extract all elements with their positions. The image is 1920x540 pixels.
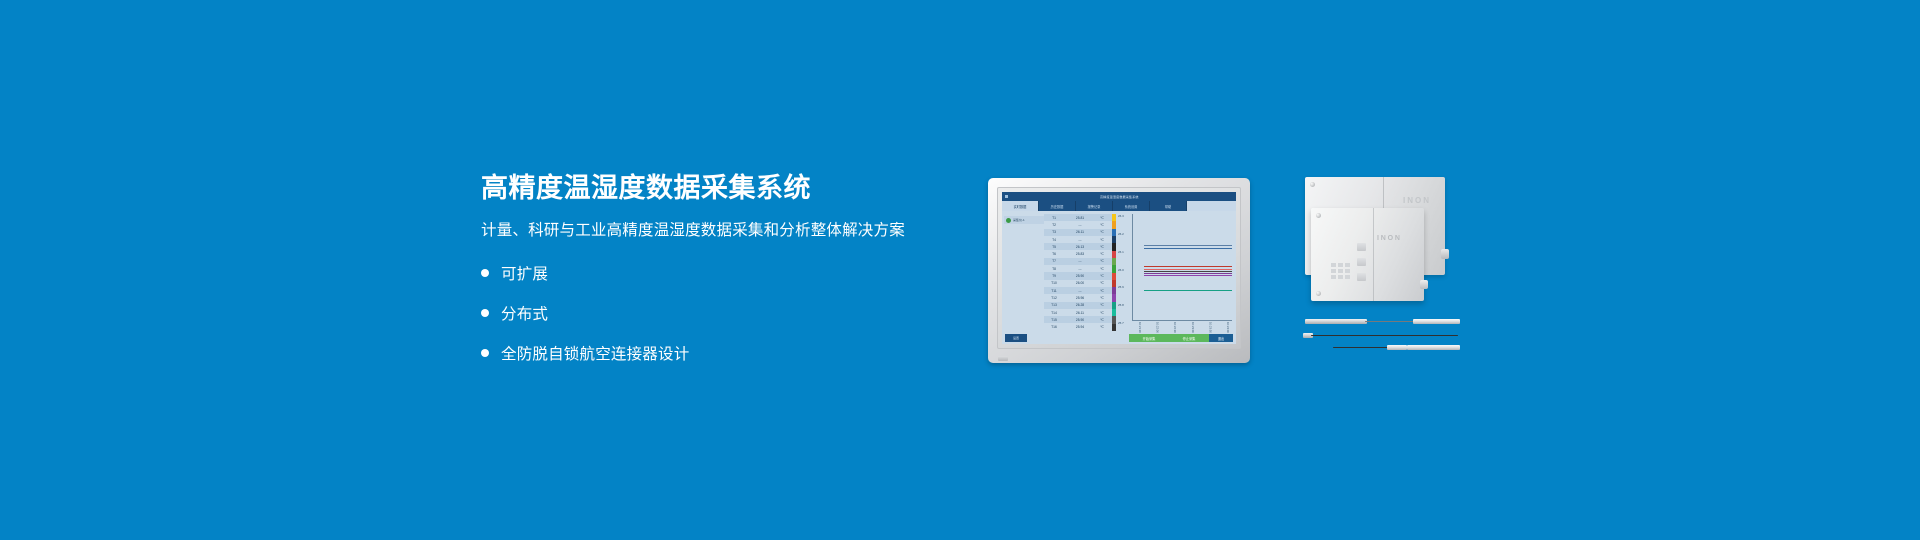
temperature-probe-1 <box>1305 319 1460 324</box>
table-row[interactable]: T125.81℃ <box>1044 214 1112 221</box>
table-row[interactable]: T2---℃ <box>1044 221 1112 228</box>
channel-value: 25.81 <box>1064 216 1096 220</box>
panel-seam <box>1373 208 1374 301</box>
device-tree-label: 采集仪-1 <box>1013 218 1025 222</box>
channel-name: T16 <box>1044 325 1064 329</box>
bullet-dot-icon <box>481 349 489 357</box>
channel-value: --- <box>1064 238 1096 242</box>
tab-alarm-log[interactable]: 报警记录 <box>1076 201 1113 211</box>
channel-name: T10 <box>1044 281 1064 285</box>
aviation-connector-icon <box>1441 249 1449 259</box>
table-row[interactable]: T1026.00℃ <box>1044 280 1112 287</box>
feature-label: 全防脱自锁航空连接器设计 <box>501 342 689 364</box>
chart-series-line <box>1144 266 1232 267</box>
banner-subtitle: 计量、科研与工业高精度温湿度数据采集和分析整体解决方案 <box>481 221 1001 241</box>
tab-label: 历史数据 <box>1051 204 1064 209</box>
app-footer: 设置 开始采集 停止采集 退出 <box>1002 333 1236 344</box>
series-color-swatch <box>1112 221 1116 228</box>
x-axis-tick-label: 10:24:00 <box>1226 322 1230 333</box>
series-color-swatch <box>1112 287 1116 294</box>
page-title: 高精度温湿度数据采集系统 <box>481 172 1001 204</box>
series-color-swatch <box>1112 229 1116 236</box>
channel-unit: ℃ <box>1096 267 1108 271</box>
channel-value: 25.94 <box>1064 325 1096 329</box>
app-body: 采集仪-1 T125.81℃T2---℃T326.11℃T4---℃T526.1… <box>1002 211 1236 333</box>
channel-name: T4 <box>1044 238 1064 242</box>
table-row[interactable]: T1326.28℃ <box>1044 302 1112 309</box>
screw-icon <box>1310 182 1315 187</box>
table-row[interactable]: T1225.96℃ <box>1044 294 1112 301</box>
channel-value: 26.13 <box>1064 245 1096 249</box>
panel-pc-tablet: 高精度温湿度数据采集系统 实时数据 历史数据 报警记录 系统设置 <box>988 178 1250 363</box>
probe-sleeve <box>1413 319 1460 323</box>
table-row[interactable]: T7---℃ <box>1044 258 1112 265</box>
chart-series-line <box>1144 248 1232 249</box>
series-color-swatch <box>1112 280 1116 287</box>
channel-unit: ℃ <box>1096 281 1108 285</box>
tab-realtime-data[interactable]: 实时数据 <box>1002 201 1039 211</box>
series-color-swatch <box>1112 251 1116 258</box>
chart-series-line <box>1144 275 1232 276</box>
tabbar-filler <box>1187 201 1236 211</box>
series-color-swatch <box>1112 265 1116 272</box>
channel-unit: ℃ <box>1096 245 1108 249</box>
product-banner: 高精度温湿度数据采集系统 计量、科研与工业高精度温湿度数据采集和分析整体解决方案… <box>0 0 1920 540</box>
tab-label: 报警记录 <box>1088 204 1101 209</box>
x-axis-tick-label: 10:22:00 <box>1156 322 1160 333</box>
channel-name: T12 <box>1044 296 1064 300</box>
series-color-swatch <box>1112 273 1116 280</box>
table-row[interactable]: T8---℃ <box>1044 265 1112 272</box>
channel-unit: ℃ <box>1096 289 1108 293</box>
table-row[interactable]: T1426.11℃ <box>1044 309 1112 316</box>
channel-name: T11 <box>1044 289 1064 293</box>
app-tabbar: 实时数据 历史数据 报警记录 系统设置 帮助 <box>1002 201 1236 211</box>
tablet-stand-foot <box>998 356 1008 361</box>
bullet-dot-icon <box>481 309 489 317</box>
channel-value: 26.00 <box>1064 281 1096 285</box>
tab-label: 实时数据 <box>1014 204 1027 209</box>
screw-icon <box>1316 213 1321 218</box>
chart-series-line <box>1144 271 1232 272</box>
channel-name: T9 <box>1044 274 1064 278</box>
table-row[interactable]: T4---℃ <box>1044 236 1112 243</box>
y-axis-tick-label: 25.7 <box>1118 321 1124 325</box>
temperature-probe-3 <box>1333 345 1460 350</box>
probe-cable <box>1311 335 1458 337</box>
y-axis-tick-label: 26.2 <box>1118 232 1124 236</box>
x-axis-tick-label: 10:22:30 <box>1173 322 1177 333</box>
tablet-bezel: 高精度温湿度数据采集系统 实时数据 历史数据 报警记录 系统设置 <box>997 187 1241 349</box>
y-axis-tick-label: 26.0 <box>1118 268 1124 272</box>
list-item: 可扩展 <box>481 262 1001 284</box>
chart-series-line <box>1144 273 1232 274</box>
channel-value: --- <box>1064 267 1096 271</box>
channel-unit: ℃ <box>1096 318 1108 322</box>
chart-y-axis: 26.326.226.126.025.925.825.7 <box>1118 214 1133 321</box>
table-row[interactable]: T11---℃ <box>1044 287 1112 294</box>
channel-name: T8 <box>1044 267 1064 271</box>
series-color-swatch <box>1112 214 1116 221</box>
channel-unit: ℃ <box>1096 303 1108 307</box>
banner-text-block: 高精度温湿度数据采集系统 计量、科研与工业高精度温湿度数据采集和分析整体解决方案… <box>481 172 1001 364</box>
channel-name: T2 <box>1044 223 1064 227</box>
channel-unit: ℃ <box>1096 223 1108 227</box>
channel-value: 25.90 <box>1064 274 1096 278</box>
table-row[interactable]: T625.83℃ <box>1044 250 1112 257</box>
y-axis-tick-label: 25.9 <box>1118 285 1124 289</box>
app-titlebar: 高精度温湿度数据采集系统 <box>1002 192 1236 201</box>
table-row[interactable]: T925.90℃ <box>1044 272 1112 279</box>
series-color-swatch <box>1112 324 1116 331</box>
bullet-dot-icon <box>481 269 489 277</box>
tab-history-data[interactable]: 历史数据 <box>1039 201 1076 211</box>
app-window-title: 高精度温湿度数据采集系统 <box>1100 194 1139 199</box>
brand-label: INON <box>1377 235 1402 242</box>
device-tree-item[interactable]: 采集仪-1 <box>1004 216 1044 224</box>
channel-name: T6 <box>1044 252 1064 256</box>
probe-cable <box>1365 321 1416 323</box>
screw-icon <box>1316 291 1321 296</box>
x-axis-tick-label: 10:23:00 <box>1191 322 1195 333</box>
series-color-swatch <box>1112 236 1116 243</box>
keypad-icon <box>1331 263 1350 279</box>
table-row[interactable]: T326.11℃ <box>1044 229 1112 236</box>
exit-button[interactable]: 退出 <box>1209 334 1233 342</box>
x-axis-tick-label: 10:23:30 <box>1208 322 1212 333</box>
probe-tip <box>1305 319 1367 324</box>
tab-settings[interactable]: 系统设置 <box>1113 201 1150 211</box>
channel-value: --- <box>1064 223 1096 227</box>
trend-chart: 26.326.226.126.025.925.825.7 10:21:3010:… <box>1118 214 1234 331</box>
footer-button-group: 开始采集 停止采集 退出 <box>1129 334 1233 342</box>
chart-series-line <box>1144 269 1232 270</box>
status-led-icon <box>1006 218 1011 223</box>
tab-label: 系统设置 <box>1125 204 1138 209</box>
channel-value: --- <box>1064 259 1096 263</box>
stop-acquisition-button[interactable]: 停止采集 <box>1169 334 1209 342</box>
tab-help[interactable]: 帮助 <box>1150 201 1187 211</box>
app-menu-icon[interactable] <box>1005 195 1008 198</box>
channel-value: 26.11 <box>1064 311 1096 315</box>
device-tree-panel: 采集仪-1 <box>1004 214 1044 331</box>
channel-name: T5 <box>1044 245 1064 249</box>
list-item: 分布式 <box>481 302 1001 324</box>
channel-unit: ℃ <box>1096 252 1108 256</box>
channel-unit: ℃ <box>1096 259 1108 263</box>
probe-cable <box>1333 347 1391 349</box>
tab-label: 帮助 <box>1165 204 1171 209</box>
channel-value: 25.90 <box>1064 318 1096 322</box>
channel-name: T15 <box>1044 318 1064 322</box>
chart-x-axis: 10:21:3010:22:0010:22:3010:23:0010:23:30… <box>1132 320 1232 331</box>
series-color-swatch <box>1112 258 1116 265</box>
x-axis-tick-label: 10:21:30 <box>1138 322 1142 333</box>
feature-label: 可扩展 <box>501 262 548 284</box>
brand-label: INON <box>1403 196 1431 205</box>
probe-sleeve <box>1387 345 1407 349</box>
series-color-swatch <box>1112 302 1116 309</box>
y-axis-tick-label: 25.8 <box>1118 303 1124 307</box>
temperature-probe-2 <box>1303 333 1458 338</box>
feature-label: 分布式 <box>501 302 548 324</box>
channel-unit: ℃ <box>1096 274 1108 278</box>
channel-value: --- <box>1064 289 1096 293</box>
channel-unit: ℃ <box>1096 238 1108 242</box>
list-item: 全防脱自锁航空连接器设计 <box>481 342 1001 364</box>
channel-unit: ℃ <box>1096 311 1108 315</box>
channel-unit: ℃ <box>1096 216 1108 220</box>
series-color-swatch <box>1112 243 1116 250</box>
feature-list: 可扩展 分布式 全防脱自锁航空连接器设计 <box>481 262 1001 364</box>
y-axis-tick-label: 26.3 <box>1118 214 1124 218</box>
channel-unit: ℃ <box>1096 325 1108 329</box>
y-axis-tick-label: 26.1 <box>1118 250 1124 254</box>
series-color-swatch <box>1112 316 1116 323</box>
chart-series-line <box>1144 290 1232 291</box>
channel-value: 26.11 <box>1064 230 1096 234</box>
channel-name: T13 <box>1044 303 1064 307</box>
series-color-swatch <box>1112 309 1116 316</box>
series-color-swatch <box>1112 294 1116 301</box>
channel-unit: ℃ <box>1096 296 1108 300</box>
table-row[interactable]: T1525.90℃ <box>1044 316 1112 323</box>
channel-table[interactable]: T125.81℃T2---℃T326.11℃T4---℃T526.13℃T625… <box>1044 214 1112 331</box>
channel-value: 25.96 <box>1064 296 1096 300</box>
channel-value: 25.83 <box>1064 252 1096 256</box>
channel-value: 26.28 <box>1064 303 1096 307</box>
port-block-icon <box>1357 243 1366 281</box>
probe-body <box>1407 345 1460 350</box>
data-logger-front: INON <box>1311 208 1424 301</box>
table-row[interactable]: T1625.94℃ <box>1044 323 1112 330</box>
channel-name: T3 <box>1044 230 1064 234</box>
settings-button[interactable]: 设置 <box>1005 334 1027 342</box>
aviation-connector-icon <box>1420 280 1428 289</box>
channel-unit: ℃ <box>1096 230 1108 234</box>
channel-name: T1 <box>1044 216 1064 220</box>
table-row[interactable]: T526.13℃ <box>1044 243 1112 250</box>
tablet-screen: 高精度温湿度数据采集系统 实时数据 历史数据 报警记录 系统设置 <box>1002 192 1236 344</box>
channel-name: T14 <box>1044 311 1064 315</box>
start-acquisition-button[interactable]: 开始采集 <box>1129 334 1169 342</box>
channel-name: T7 <box>1044 259 1064 263</box>
chart-series-line <box>1144 245 1232 246</box>
chart-plot-area <box>1132 216 1232 321</box>
series-color-strip <box>1112 214 1116 331</box>
